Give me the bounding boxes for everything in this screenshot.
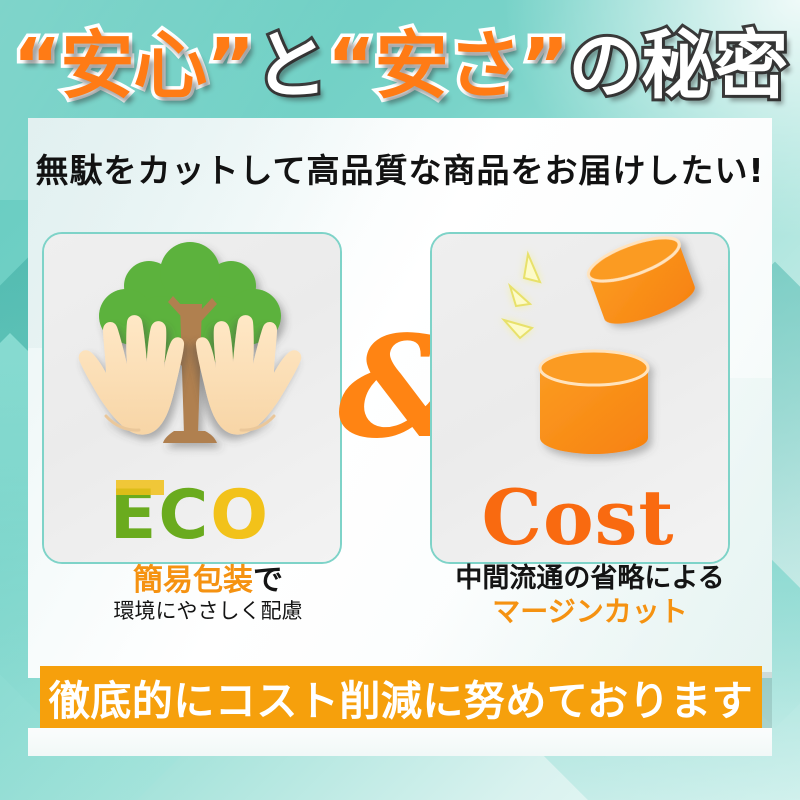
caption-eco-line1-orange: 簡易包装: [133, 563, 253, 598]
poster-root: “安心” と “安さ” の秘密 無駄をカットして高品質な商品をお届けしたい!: [0, 0, 800, 800]
eco-letter-c: C: [158, 476, 210, 555]
caption-eco-line1-black: で: [253, 563, 283, 598]
eco-wordmark: ECO: [44, 482, 336, 550]
cylinder-body: [540, 351, 648, 454]
headline-part-yasusa: “安さ”: [327, 29, 568, 103]
page-title: “安心” と “安さ” の秘密: [0, 14, 800, 118]
content-panel: 無駄をカットして高品質な商品をお届けしたい!: [28, 118, 772, 678]
cost-wordmark: Cost: [432, 480, 724, 556]
cost-label: Cost: [481, 473, 674, 562]
card-eco[interactable]: ECO: [42, 232, 342, 564]
headline-part-anshin: “安心”: [13, 29, 254, 103]
captions-row: 簡易包装で 環境にやさしく配慮 中間流通の省略による マージンカット: [28, 564, 772, 660]
headline-part-himitsu: の秘密: [568, 29, 787, 103]
hands-tree-icon: [44, 234, 336, 484]
bottom-banner: 徹底的にコスト削減に努めております: [40, 666, 762, 728]
panel-subtitle: 無駄をカットして高品質な商品をお届けしたい!: [28, 144, 772, 192]
caption-eco-line2: 環境にやさしく配慮: [38, 598, 378, 624]
cylinder-lid: [584, 234, 700, 332]
bottom-banner-text: 徹底的にコスト削減に努めております: [49, 667, 753, 727]
panel-footer-strip: [28, 728, 772, 756]
caption-cost-line1: 中間流通の省略による: [420, 564, 760, 594]
caption-eco: 簡易包装で 環境にやさしく配慮: [38, 564, 378, 624]
caption-cost-line2: マージンカット: [420, 594, 760, 629]
cards-row: ECO &: [28, 232, 772, 562]
card-cost[interactable]: Cost: [430, 232, 730, 564]
eco-letter-e: E: [110, 476, 158, 555]
caption-eco-line1: 簡易包装で: [38, 564, 378, 598]
eco-letter-o: O: [210, 476, 270, 555]
caption-cost: 中間流通の省略による マージンカット: [420, 564, 760, 629]
banner-edge-shadow: [762, 672, 772, 734]
ampersand-separator: &: [338, 318, 422, 458]
coin-cylinder-icon: [432, 234, 724, 484]
sparkle-lines: [504, 254, 540, 338]
headline-part-to: と: [254, 29, 327, 103]
